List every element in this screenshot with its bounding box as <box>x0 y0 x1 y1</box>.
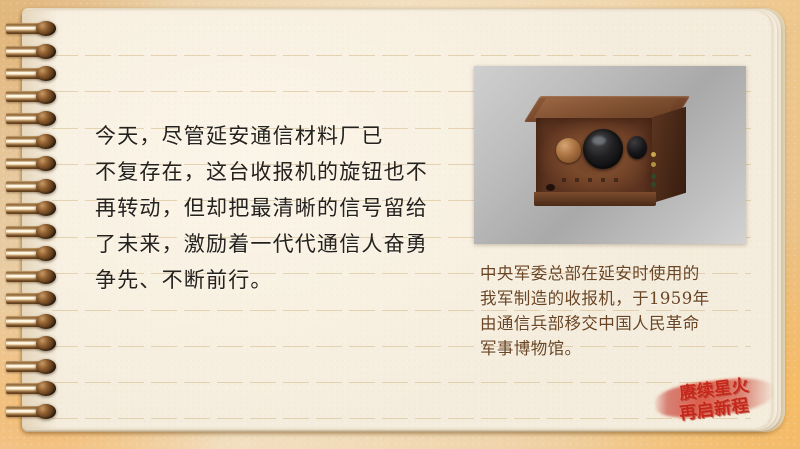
spiral-ring-bulb <box>36 44 56 59</box>
spiral-ring-bulb <box>36 156 56 171</box>
spiral-ring-bulb <box>36 381 56 396</box>
spiral-ring <box>6 44 58 59</box>
photo-caption: 中央军委总部在延安时使用的 我军制造的收报机，于1959年 由通信兵部移交中国人… <box>480 261 770 361</box>
spiral-ring-bulb <box>36 201 56 216</box>
rule-line <box>52 418 751 419</box>
spiral-ring <box>6 21 58 36</box>
radio-center-dial <box>583 129 623 169</box>
spiral-ring <box>6 201 58 216</box>
radio-terminal <box>651 174 656 179</box>
spiral-ring-bulb <box>36 246 56 261</box>
spiral-ring-bulb <box>36 224 56 239</box>
spiral-ring <box>6 156 58 171</box>
spiral-ring <box>6 179 58 194</box>
radio-illustration <box>526 96 694 208</box>
spiral-ring-bulb <box>36 179 56 194</box>
spiral-ring <box>6 314 58 329</box>
spiral-ring-bulb <box>36 89 56 104</box>
radio-side-panel <box>652 107 686 203</box>
spiral-ring-bulb <box>36 66 56 81</box>
campaign-logo: 赓续星火 再启新程 <box>655 373 773 421</box>
spiral-ring-bulb <box>36 21 56 36</box>
spiral-ring <box>6 134 58 149</box>
radio-left-knob <box>556 138 581 163</box>
radio-right-knob <box>627 136 647 159</box>
spiral-ring <box>6 404 58 419</box>
radio-terminal <box>651 182 656 187</box>
spiral-ring-bulb <box>36 359 56 374</box>
spiral-ring <box>6 66 58 81</box>
spiral-ring-bulb <box>36 314 56 329</box>
radio-terminal <box>651 152 656 157</box>
spiral-ring <box>6 269 58 284</box>
spiral-ring-bulb <box>36 291 56 306</box>
spiral-ring <box>6 89 58 104</box>
spiral-ring <box>6 246 58 261</box>
radio-port-hole <box>546 184 555 191</box>
rule-line <box>52 55 751 56</box>
spiral-ring-bulb <box>36 269 56 284</box>
spiral-ring <box>6 111 58 126</box>
spiral-ring-bulb <box>36 336 56 351</box>
slide-canvas: 今天，尽管延安通信材料厂已 不复存在，这台收报机的旋钮也不 再转动，但却把最清晰… <box>0 0 800 449</box>
spiral-ring <box>6 291 58 306</box>
rule-line <box>52 382 751 383</box>
spiral-ring-bulb <box>36 404 56 419</box>
radio-terminal <box>651 162 656 167</box>
spiral-ring <box>6 224 58 239</box>
radio-base <box>534 192 656 206</box>
spiral-ring-bulb <box>36 111 56 126</box>
spiral-binding <box>6 0 64 449</box>
spiral-ring <box>6 381 58 396</box>
spiral-ring <box>6 336 58 351</box>
spiral-ring-bulb <box>36 134 56 149</box>
vintage-radio-receiver-photo <box>474 66 746 244</box>
spiral-ring <box>6 359 58 374</box>
body-paragraph: 今天，尽管延安通信材料厂已 不复存在，这台收报机的旋钮也不 再转动，但却把最清晰… <box>95 118 467 298</box>
radio-screw-row <box>562 178 622 182</box>
